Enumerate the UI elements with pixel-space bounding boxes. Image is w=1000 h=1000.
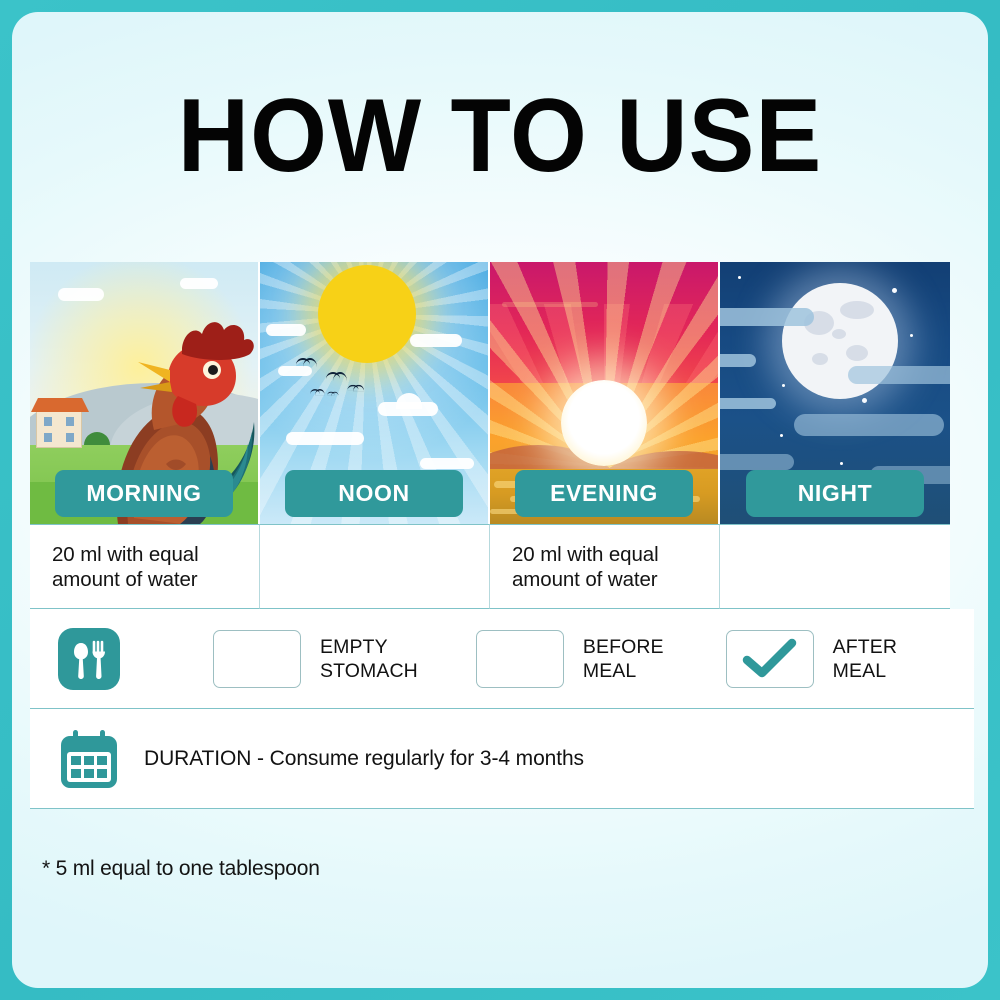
scene-panel-morning: MORNING	[30, 262, 260, 524]
checkbox-before-meal[interactable]	[476, 630, 564, 688]
label-after-meal: AFTER MEAL	[833, 635, 897, 683]
dose-row: 20 ml with equal amount of water 20 ml w…	[30, 524, 974, 609]
dose-cell-noon	[260, 524, 490, 609]
page-title: HOW TO USE	[36, 84, 963, 188]
scene-panel-evening: EVENING	[490, 262, 720, 524]
calendar-icon	[58, 728, 120, 790]
dose-cell-evening: 20 ml with equal amount of water	[490, 524, 720, 609]
meal-timing-row: EMPTY STOMACH BEFORE MEAL AFTER MEAL	[30, 609, 974, 709]
meal-option-after-meal[interactable]: AFTER MEAL	[726, 630, 897, 688]
checkmark-icon	[742, 638, 798, 680]
dose-cell-night	[720, 524, 950, 609]
footnote: * 5 ml equal to one tablespoon	[42, 857, 320, 881]
dose-text-evening: 20 ml with equal amount of water	[512, 542, 659, 592]
scene-panel-night: NIGHT	[720, 262, 950, 524]
label-empty-stomach: EMPTY STOMACH	[320, 635, 418, 683]
badge-morning: MORNING	[55, 470, 233, 517]
meal-option-before-meal[interactable]: BEFORE MEAL	[476, 630, 664, 688]
poster-inner: HOW TO USE	[12, 12, 988, 988]
duration-row: DURATION - Consume regularly for 3-4 mon…	[30, 709, 974, 809]
poster-frame: HOW TO USE	[0, 0, 1000, 1000]
dose-cell-morning: 20 ml with equal amount of water	[30, 524, 260, 609]
dose-text-morning: 20 ml with equal amount of water	[52, 542, 199, 592]
checkbox-after-meal[interactable]	[726, 630, 814, 688]
label-before-meal: BEFORE MEAL	[583, 635, 664, 683]
scene-row: MORNING	[30, 262, 974, 524]
badge-noon: NOON	[285, 470, 463, 517]
checkbox-empty-stomach[interactable]	[213, 630, 301, 688]
duration-text: DURATION - Consume regularly for 3-4 mon…	[144, 747, 584, 771]
usage-table: MORNING	[30, 262, 974, 809]
badge-evening: EVENING	[515, 470, 693, 517]
setting-sun-icon	[561, 380, 647, 466]
cutlery-icon	[58, 628, 120, 690]
badge-night: NIGHT	[746, 470, 924, 517]
farmhouse-icon	[36, 410, 82, 448]
scene-panel-noon: NOON	[260, 262, 490, 524]
meal-option-empty-stomach[interactable]: EMPTY STOMACH	[213, 630, 418, 688]
sun-icon	[318, 265, 416, 363]
